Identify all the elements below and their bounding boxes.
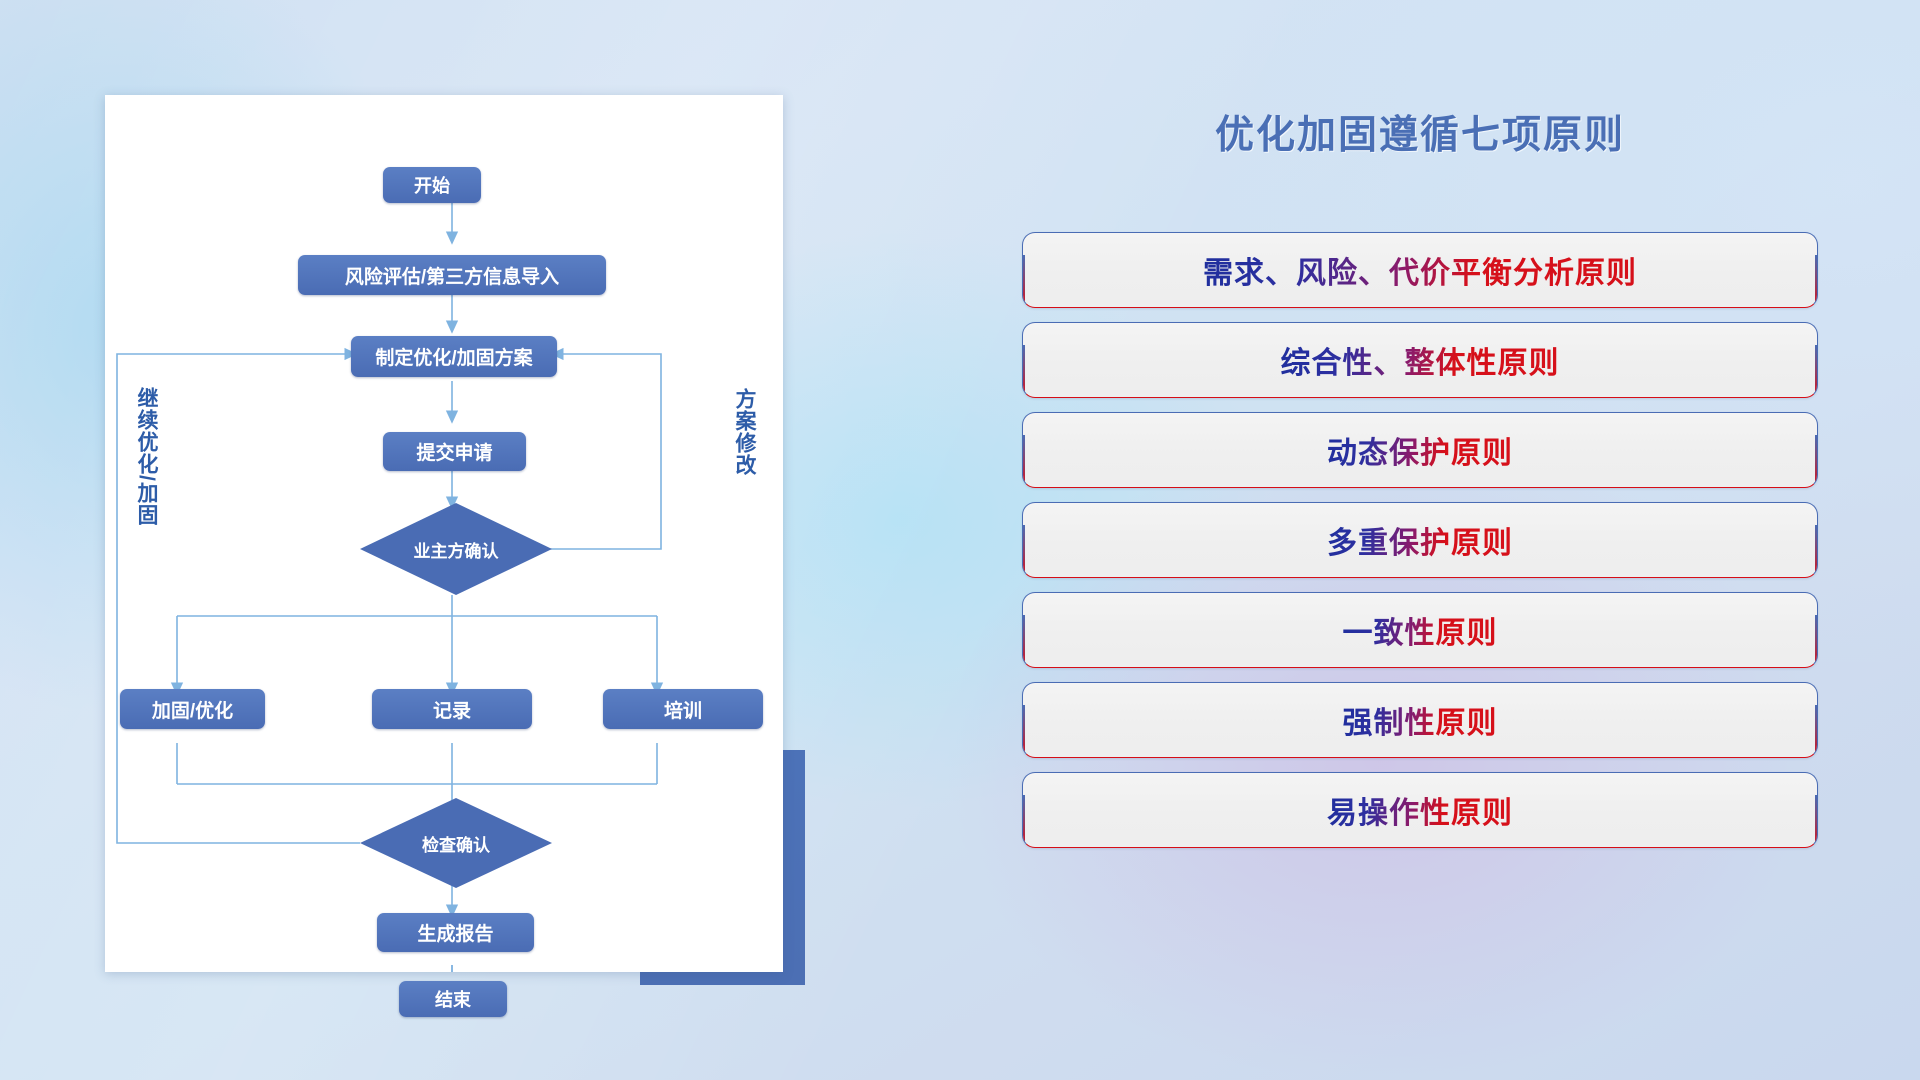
principle-label: 需求、风险、代价平衡分析原则	[1203, 248, 1637, 292]
flow-node-submit-label: 提交申请	[416, 438, 492, 465]
flow-node-start-label: 开始	[414, 172, 450, 198]
principle-label: 强制性原则	[1343, 698, 1498, 742]
principle-label: 一致性原则	[1343, 608, 1498, 652]
principle-item-2[interactable]: 综合性、整体性原则	[1022, 322, 1818, 398]
flow-node-record-label: 记录	[433, 696, 471, 723]
principle-item-5[interactable]: 一致性原则	[1022, 592, 1818, 668]
flow-node-reinforce-label: 加固/优化	[152, 696, 233, 723]
principle-item-6[interactable]: 强制性原则	[1022, 682, 1818, 758]
flow-edge-label-left: 继续优化/加固	[135, 387, 157, 526]
flow-node-start[interactable]: 开始	[383, 167, 481, 203]
flow-node-training[interactable]: 培训	[603, 689, 763, 729]
principle-label: 多重保护原则	[1327, 518, 1513, 562]
flow-node-plan-label: 制定优化/加固方案	[375, 343, 532, 370]
principle-label: 易操作性原则	[1327, 788, 1513, 832]
principles-list: 需求、风险、代价平衡分析原则 综合性、整体性原则 动态保护原则 多重保护原则 一…	[1022, 232, 1818, 862]
flow-node-report[interactable]: 生成报告	[377, 913, 534, 952]
flow-node-reinforce[interactable]: 加固/优化	[120, 689, 265, 729]
principle-item-1[interactable]: 需求、风险、代价平衡分析原则	[1022, 232, 1818, 308]
flowchart-card: 开始 风险评估/第三方信息导入 制定优化/加固方案 提交申请 业主方确认 加固/…	[105, 95, 783, 972]
flow-node-risk-assessment[interactable]: 风险评估/第三方信息导入	[298, 255, 606, 295]
flow-node-training-label: 培训	[664, 696, 702, 723]
flow-node-record[interactable]: 记录	[372, 689, 532, 729]
principle-item-7[interactable]: 易操作性原则	[1022, 772, 1818, 848]
page-title: 优化加固遵循七项原则	[1020, 104, 1820, 160]
principle-item-3[interactable]: 动态保护原则	[1022, 412, 1818, 488]
flow-node-report-label: 生成报告	[417, 919, 493, 946]
flow-edge-label-right: 方案修改	[733, 388, 755, 476]
flow-node-submit[interactable]: 提交申请	[383, 432, 526, 471]
flow-node-end[interactable]: 结束	[399, 981, 507, 1017]
principle-label: 综合性、整体性原则	[1281, 338, 1560, 382]
principle-item-4[interactable]: 多重保护原则	[1022, 502, 1818, 578]
flow-node-end-label: 结束	[435, 986, 471, 1012]
principle-label: 动态保护原则	[1327, 428, 1513, 472]
flow-node-risk-assessment-label: 风险评估/第三方信息导入	[345, 262, 559, 289]
flow-node-inspect-confirm-label: 检查确认	[422, 831, 490, 856]
flow-node-owner-confirm-label: 业主方确认	[414, 537, 499, 562]
flow-node-plan[interactable]: 制定优化/加固方案	[351, 336, 557, 377]
